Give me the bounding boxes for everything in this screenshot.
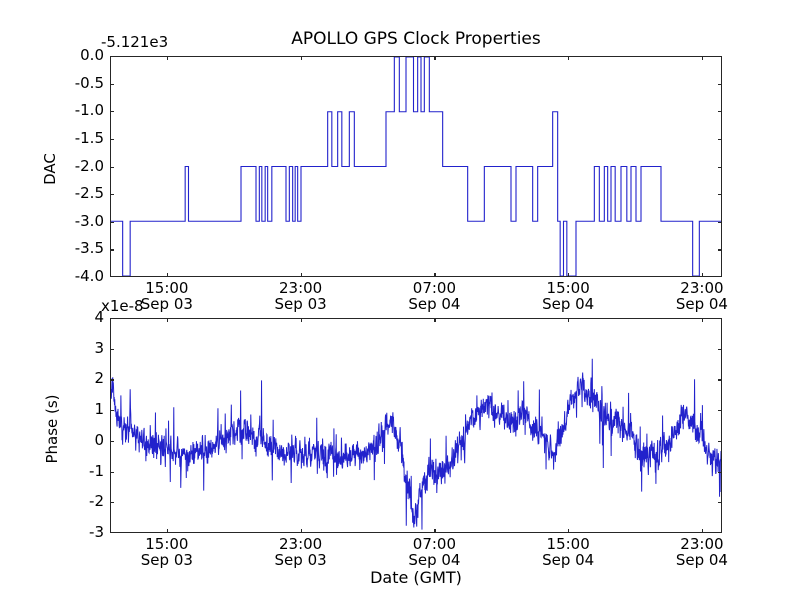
phase-y-tick-mark — [718, 349, 722, 350]
dac-y-tick-label: -3.0 — [0, 214, 104, 230]
dac-y-tick-label: -1.5 — [0, 131, 104, 147]
dac-y-tick-label: -3.5 — [0, 242, 104, 258]
phase-x-tick-label: 15:00Sep 04 — [542, 537, 594, 569]
phase-x-tick-mark — [702, 318, 703, 322]
matplotlib-figure: APOLLO GPS Clock Properties -5.121e3 DAC… — [0, 0, 800, 600]
phase-y-tick-mark — [718, 441, 722, 442]
dac-y-tick-mark — [718, 139, 722, 140]
phase-y-tick-mark — [718, 379, 722, 380]
phase-x-tick-mark — [167, 318, 168, 322]
phase-y-tick-mark — [110, 349, 114, 350]
phase-y-tick-label: 3 — [0, 341, 104, 357]
dac-y-tick-label: -0.5 — [0, 76, 104, 92]
phase-y-tick-label: 4 — [0, 310, 104, 326]
figure-title: APOLLO GPS Clock Properties — [110, 29, 722, 49]
phase-y-tick-mark — [718, 502, 722, 503]
dac-y-offset-label: -5.121e3 — [101, 33, 168, 51]
dac-x-tick-mark — [434, 56, 435, 60]
phase-y-tick-mark — [718, 410, 722, 411]
dac-x-tick-mark — [167, 56, 168, 60]
phase-y-tick-label: 1 — [0, 402, 104, 418]
dac-y-tick-label: -2.5 — [0, 186, 104, 202]
dac-y-tick-mark — [718, 111, 722, 112]
phase-y-tick-label: -1 — [0, 464, 104, 480]
dac-y-tick-label: -1.0 — [0, 103, 104, 119]
dac-y-tick-mark — [110, 84, 114, 85]
dac-x-tick-label: 15:00Sep 03 — [141, 281, 193, 313]
phase-x-tick-label: 23:00Sep 04 — [676, 537, 728, 569]
dac-y-tick-label: -2.0 — [0, 159, 104, 175]
phase-y-tick-mark — [718, 472, 722, 473]
phase-x-tick-label: 23:00Sep 03 — [275, 537, 327, 569]
phase-x-tick-mark — [568, 318, 569, 322]
phase-x-tick-mark — [301, 529, 302, 533]
phase-x-tick-label: 15:00Sep 03 — [141, 537, 193, 569]
phase-plot-area — [110, 318, 722, 533]
dac-x-tick-mark — [702, 273, 703, 277]
dac-x-tick-mark — [702, 56, 703, 60]
phase-x-tick-mark — [167, 529, 168, 533]
phase-x-tick-mark — [434, 318, 435, 322]
dac-x-tick-mark — [301, 56, 302, 60]
dac-y-tick-label: -4.0 — [0, 269, 104, 285]
dac-y-tick-label: 0.0 — [0, 48, 104, 64]
dac-x-tick-label: 15:00Sep 04 — [542, 281, 594, 313]
dac-y-tick-mark — [718, 84, 722, 85]
dac-x-tick-mark — [568, 273, 569, 277]
phase-y-tick-label: 0 — [0, 433, 104, 449]
phase-y-tick-label: 2 — [0, 372, 104, 388]
x-axis-label: Date (GMT) — [110, 568, 722, 587]
phase-y-tick-mark — [110, 410, 114, 411]
phase-y-tick-mark — [110, 441, 114, 442]
phase-y-tick-mark — [110, 379, 114, 380]
dac-x-tick-mark — [167, 273, 168, 277]
phase-noise-line — [111, 319, 721, 532]
phase-x-tick-mark — [702, 529, 703, 533]
dac-step-line — [111, 57, 721, 276]
dac-y-tick-mark — [110, 167, 114, 168]
dac-x-tick-mark — [568, 56, 569, 60]
dac-y-tick-mark — [110, 249, 114, 250]
dac-series-path — [111, 57, 721, 276]
dac-x-tick-label: 23:00Sep 04 — [676, 281, 728, 313]
phase-y-tick-label: -2 — [0, 494, 104, 510]
phase-y-offset-label: x1e-8 — [101, 297, 144, 315]
phase-y-tick-mark — [110, 502, 114, 503]
dac-y-tick-mark — [718, 194, 722, 195]
dac-x-tick-label: 23:00Sep 03 — [275, 281, 327, 313]
phase-x-tick-mark — [434, 529, 435, 533]
dac-plot-area — [110, 56, 722, 277]
phase-y-tick-mark — [110, 472, 114, 473]
dac-y-tick-mark — [110, 111, 114, 112]
dac-x-tick-mark — [434, 273, 435, 277]
dac-y-tick-mark — [110, 194, 114, 195]
phase-series-path — [111, 359, 721, 530]
dac-y-tick-mark — [718, 222, 722, 223]
dac-y-tick-mark — [718, 249, 722, 250]
phase-x-tick-label: 07:00Sep 04 — [408, 537, 460, 569]
phase-x-tick-mark — [301, 318, 302, 322]
phase-x-tick-mark — [568, 529, 569, 533]
dac-x-tick-label: 07:00Sep 04 — [408, 281, 460, 313]
phase-y-tick-label: -3 — [0, 525, 104, 541]
dac-y-tick-mark — [718, 167, 722, 168]
dac-y-tick-mark — [110, 139, 114, 140]
dac-x-tick-mark — [301, 273, 302, 277]
dac-y-tick-mark — [110, 222, 114, 223]
